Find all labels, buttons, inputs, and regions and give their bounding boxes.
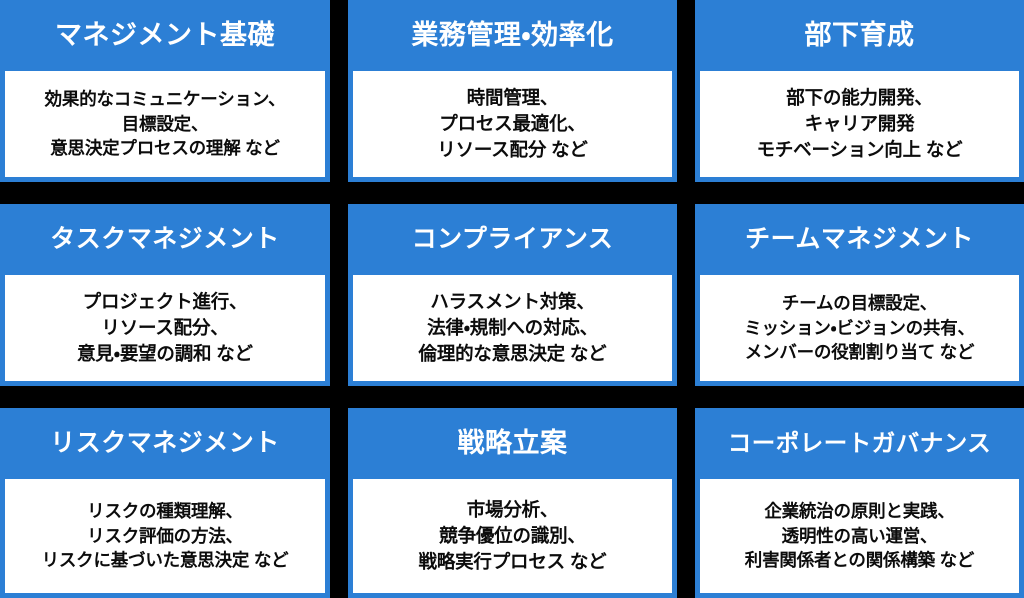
grid-gap-cross bbox=[677, 182, 695, 204]
card-header: コンプライアンス bbox=[348, 204, 677, 275]
grid-gap-horizontal bbox=[0, 182, 330, 204]
card-title: 業務管理・効率化 bbox=[411, 21, 613, 51]
card-header: 戦略立案 bbox=[348, 408, 677, 479]
card-header: コーポレートガバナンス bbox=[695, 408, 1024, 479]
card-operations-efficiency[interactable]: 業務管理・効率化 時間管理、 プロセス最適化、 リソース配分 など bbox=[348, 0, 677, 182]
card-strategy-planning[interactable]: 戦略立案 市場分析、 競争優位の識別、 戦略実行プロセス など bbox=[348, 408, 677, 598]
card-title: マネジメント基礎 bbox=[55, 21, 275, 51]
card-title: リスクマネジメント bbox=[50, 430, 280, 458]
card-body: ハラスメント対策、 法律・規制への対応、 倫理的な意思決定 など bbox=[353, 275, 672, 381]
skill-card-grid: マネジメント基礎 効果的なコミュニケーション、 目標設定、 意思決定プロセスの理… bbox=[0, 0, 1024, 598]
card-body-text: 企業統治の原則と実践、 透明性の高い運営、 利害関係者との関係構築 など bbox=[745, 499, 974, 574]
card-body: チームの目標設定、 ミッション・ビジョンの共有、 メンバーの役割割り当て など bbox=[700, 275, 1019, 381]
grid-gap-horizontal bbox=[348, 386, 677, 408]
grid-gap-horizontal bbox=[695, 182, 1024, 204]
card-header: 業務管理・効率化 bbox=[348, 0, 677, 71]
card-header: タスクマネジメント bbox=[0, 204, 330, 275]
card-body-text: ハラスメント対策、 法律・規制への対応、 倫理的な意思決定 など bbox=[419, 289, 607, 368]
card-body-text: 効果的なコミュニケーション、 目標設定、 意思決定プロセスの理解 など bbox=[45, 87, 286, 162]
card-body: 企業統治の原則と実践、 透明性の高い運営、 利害関係者との関係構築 など bbox=[700, 479, 1019, 593]
grid-gap-vertical bbox=[330, 408, 348, 598]
card-team-management[interactable]: チームマネジメント チームの目標設定、 ミッション・ビジョンの共有、 メンバーの… bbox=[695, 204, 1024, 386]
card-task-management[interactable]: タスクマネジメント プロジェクト進行、 リソース配分、 意見・要望の調和 など bbox=[0, 204, 330, 386]
card-header: リスクマネジメント bbox=[0, 408, 330, 479]
card-body: 部下の能力開発、 キャリア開発 モチベーション向上 など bbox=[700, 71, 1019, 177]
card-management-basics[interactable]: マネジメント基礎 効果的なコミュニケーション、 目標設定、 意思決定プロセスの理… bbox=[0, 0, 330, 182]
grid-gap-cross bbox=[677, 386, 695, 408]
grid-gap-horizontal bbox=[348, 182, 677, 204]
card-body-frame: ハラスメント対策、 法律・規制への対応、 倫理的な意思決定 など bbox=[348, 275, 677, 386]
grid-gap-vertical bbox=[330, 0, 348, 182]
card-title: タスクマネジメント bbox=[50, 226, 280, 254]
card-body: 市場分析、 競争優位の識別、 戦略実行プロセス など bbox=[353, 479, 672, 593]
card-body-frame: 効果的なコミュニケーション、 目標設定、 意思決定プロセスの理解 など bbox=[0, 71, 330, 182]
grid-gap-horizontal bbox=[0, 386, 330, 408]
card-body-frame: 企業統治の原則と実践、 透明性の高い運営、 利害関係者との関係構築 など bbox=[695, 479, 1024, 598]
card-body-text: リスクの種類理解、 リスク評価の方法、 リスクに基づいた意思決定 など bbox=[42, 499, 289, 574]
card-title: 戦略立案 bbox=[458, 429, 568, 459]
card-header: チームマネジメント bbox=[695, 204, 1024, 275]
grid-gap-vertical bbox=[677, 408, 695, 598]
card-body-text: プロジェクト進行、 リソース配分、 意見・要望の調和 など bbox=[77, 289, 253, 368]
card-body-frame: チームの目標設定、 ミッション・ビジョンの共有、 メンバーの役割割り当て など bbox=[695, 275, 1024, 386]
grid-gap-cross bbox=[330, 182, 348, 204]
grid-gap-vertical bbox=[677, 0, 695, 182]
card-body: 効果的なコミュニケーション、 目標設定、 意思決定プロセスの理解 など bbox=[5, 71, 325, 177]
card-body-text: 市場分析、 競争優位の識別、 戦略実行プロセス など bbox=[419, 497, 607, 576]
card-body-frame: 市場分析、 競争優位の識別、 戦略実行プロセス など bbox=[348, 479, 677, 598]
card-body-text: 時間管理、 プロセス最適化、 リソース配分 など bbox=[437, 85, 587, 164]
card-body-text: チームの目標設定、 ミッション・ビジョンの共有、 メンバーの役割割り当て など bbox=[744, 291, 975, 366]
card-title: コーポレートガバナンス bbox=[728, 431, 992, 457]
card-compliance[interactable]: コンプライアンス ハラスメント対策、 法律・規制への対応、 倫理的な意思決定 な… bbox=[348, 204, 677, 386]
grid-gap-horizontal bbox=[695, 386, 1024, 408]
card-header: 部下育成 bbox=[695, 0, 1024, 71]
card-body: リスクの種類理解、 リスク評価の方法、 リスクに基づいた意思決定 など bbox=[5, 479, 325, 593]
grid-gap-vertical bbox=[677, 204, 695, 386]
card-body: 時間管理、 プロセス最適化、 リソース配分 など bbox=[353, 71, 672, 177]
card-body-text: 部下の能力開発、 キャリア開発 モチベーション向上 など bbox=[757, 85, 963, 164]
card-title: コンプライアンス bbox=[412, 226, 614, 254]
card-title: チームマネジメント bbox=[745, 226, 974, 254]
card-body-frame: プロジェクト進行、 リソース配分、 意見・要望の調和 など bbox=[0, 275, 330, 386]
card-subordinate-development[interactable]: 部下育成 部下の能力開発、 キャリア開発 モチベーション向上 など bbox=[695, 0, 1024, 182]
card-corporate-governance[interactable]: コーポレートガバナンス 企業統治の原則と実践、 透明性の高い運営、 利害関係者と… bbox=[695, 408, 1024, 598]
card-body-frame: 時間管理、 プロセス最適化、 リソース配分 など bbox=[348, 71, 677, 182]
card-body-frame: リスクの種類理解、 リスク評価の方法、 リスクに基づいた意思決定 など bbox=[0, 479, 330, 598]
card-body: プロジェクト進行、 リソース配分、 意見・要望の調和 など bbox=[5, 275, 325, 381]
grid-gap-vertical bbox=[330, 204, 348, 386]
card-body-frame: 部下の能力開発、 キャリア開発 モチベーション向上 など bbox=[695, 71, 1024, 182]
card-risk-management[interactable]: リスクマネジメント リスクの種類理解、 リスク評価の方法、 リスクに基づいた意思… bbox=[0, 408, 330, 598]
card-title: 部下育成 bbox=[805, 21, 915, 51]
card-header: マネジメント基礎 bbox=[0, 0, 330, 71]
grid-gap-cross bbox=[330, 386, 348, 408]
